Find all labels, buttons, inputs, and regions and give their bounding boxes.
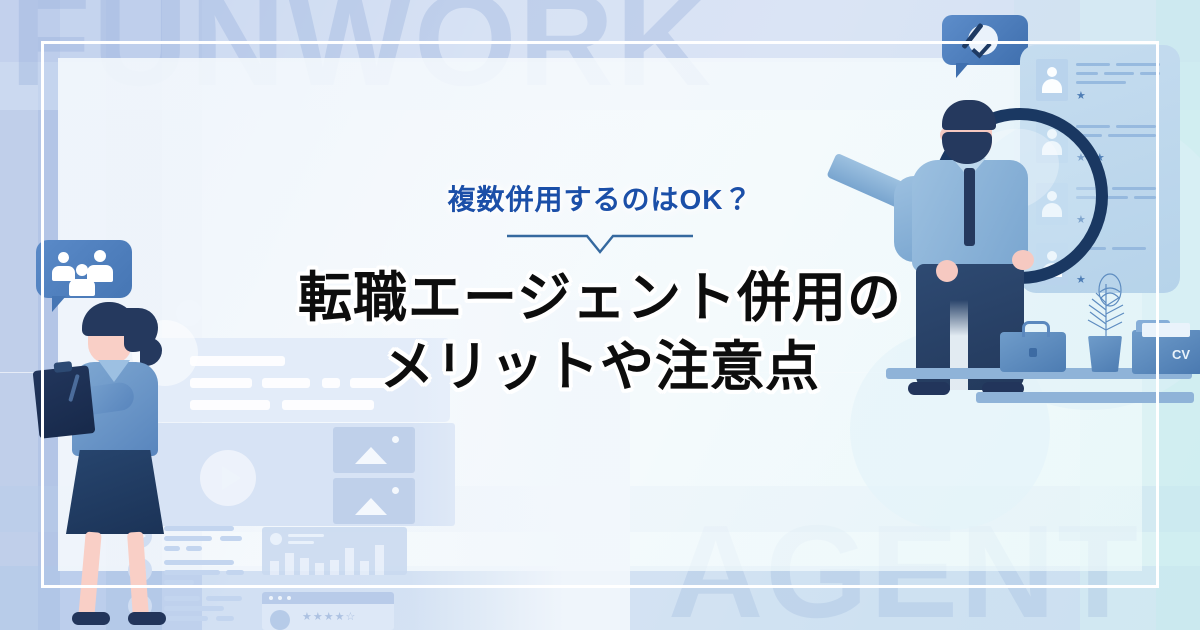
- bar-chart-icon: [262, 527, 407, 575]
- person-avatar-icon: [270, 610, 290, 630]
- star-rating: ★★★★☆: [302, 610, 356, 623]
- title-line-2: メリットや注意点: [0, 333, 1200, 402]
- headline-block: 複数併用するのはOK？ 転職エージェント併用の メリットや注意点: [0, 178, 1200, 402]
- speech-bubble-check: [942, 15, 1028, 65]
- page-title: 転職エージェント併用の メリットや注意点: [0, 264, 1200, 402]
- rating-card: ★★★★☆: [262, 592, 394, 630]
- divider-arrow: [505, 232, 695, 256]
- image-placeholder-icon: [333, 427, 415, 473]
- title-line-1: 転職エージェント併用の: [0, 264, 1200, 333]
- subtitle: 複数併用するのはOK？: [0, 178, 1200, 218]
- image-placeholder-icon: [333, 478, 415, 524]
- thumbnail-canvas: FUNWORK AGENT: [0, 0, 1200, 630]
